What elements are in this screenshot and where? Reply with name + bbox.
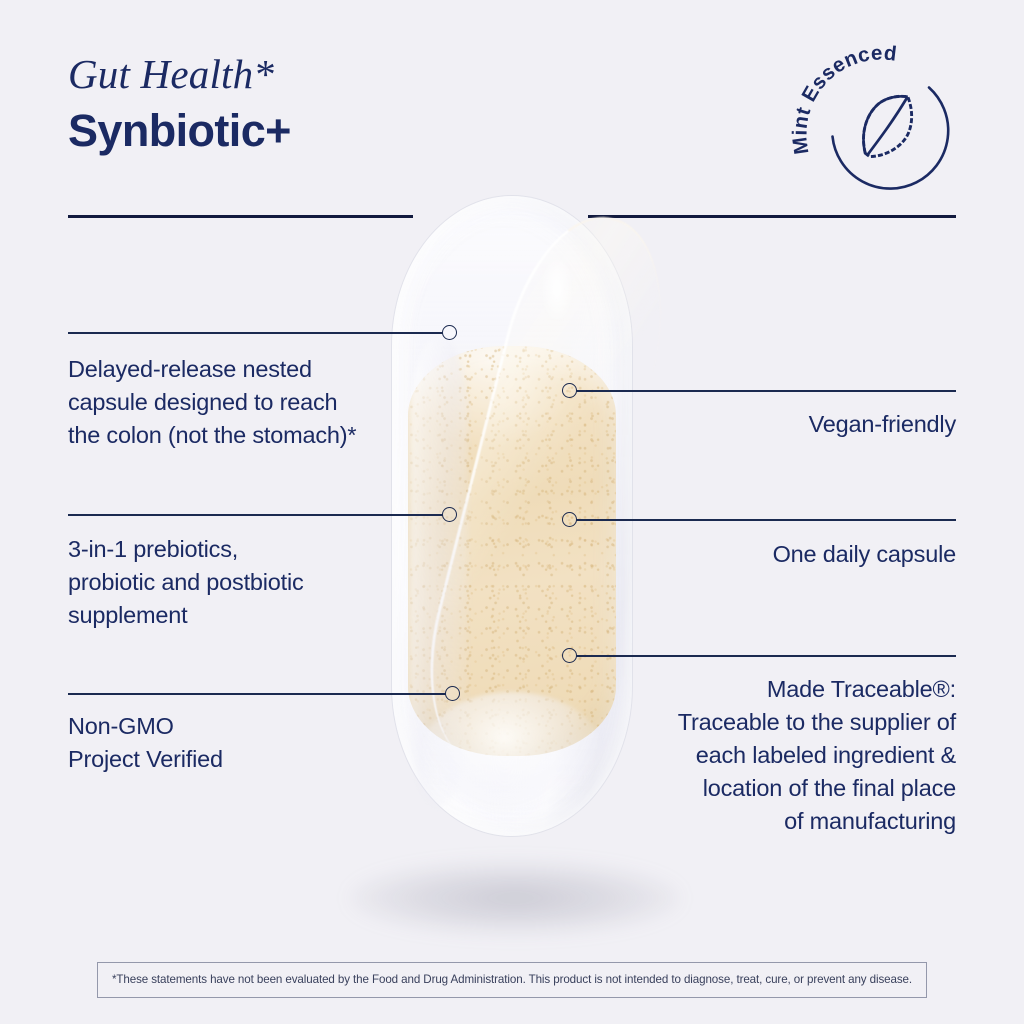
infographic-canvas: Gut Health* Synbiotic+ Mint Essenced (0, 0, 1024, 1024)
feature-line: capsule designed to reach (68, 386, 398, 419)
feature-line: supplement (68, 599, 398, 632)
connector-endpoint-dot (442, 507, 457, 522)
feature-line: Made Traceable®: (556, 673, 956, 706)
feature-three-in-one: 3-in-1 prebiotics, probiotic and postbio… (68, 533, 398, 632)
feature-delayed-release: Delayed-release nested capsule designed … (68, 353, 398, 452)
capsule-drop-shadow (350, 862, 680, 934)
connector-delayed-release (68, 324, 458, 342)
connector-endpoint-dot (442, 325, 457, 340)
connector-made-traceable (562, 647, 956, 665)
feature-line: 3-in-1 prebiotics, (68, 533, 398, 566)
disclaimer-box: *These statements have not been evaluate… (97, 962, 927, 998)
connector-endpoint-dot (562, 512, 577, 527)
connector-line (576, 655, 956, 657)
feature-line: Project Verified (68, 743, 398, 776)
feature-line: Non-GMO (68, 710, 398, 743)
connector-non-gmo (68, 685, 463, 703)
connector-line (68, 693, 446, 695)
product-name-title: Synbiotic+ (68, 107, 628, 154)
connector-endpoint-dot (445, 686, 460, 701)
connector-line (68, 332, 443, 334)
feature-line: One daily capsule (556, 538, 956, 571)
mint-essenced-badge: Mint Essenced (790, 40, 970, 205)
feature-one-daily-capsule: One daily capsule (556, 538, 956, 571)
feature-line: probiotic and postbiotic (68, 566, 398, 599)
connector-three-in-one (68, 506, 458, 524)
badge-graphic: Mint Essenced (790, 40, 970, 205)
header-divider-right (588, 215, 956, 218)
eyebrow-title: Gut Health* (68, 54, 628, 95)
connector-line (576, 390, 956, 392)
feature-line: Vegan-friendly (556, 408, 956, 441)
feature-line: of manufacturing (556, 805, 956, 838)
connector-vegan-friendly (562, 382, 956, 400)
header-divider-left (68, 215, 413, 218)
feature-line: each labeled ingredient & (556, 739, 956, 772)
connector-endpoint-dot (562, 383, 577, 398)
feature-line: the colon (not the stomach)* (68, 419, 398, 452)
feature-vegan-friendly: Vegan-friendly (556, 408, 956, 441)
feature-line: location of the final place (556, 772, 956, 805)
connector-line (576, 519, 956, 521)
feature-made-traceable: Made Traceable®: Traceable to the suppli… (556, 673, 956, 837)
leaf-icon (858, 95, 917, 158)
connector-one-daily-capsule (562, 511, 956, 529)
badge-circle-arc (833, 88, 949, 189)
connector-endpoint-dot (562, 648, 577, 663)
badge-label: Mint Essenced (790, 41, 898, 155)
page-title: Gut Health* Synbiotic+ (68, 54, 628, 154)
capsule-specular-highlight (540, 254, 574, 324)
connector-line (68, 514, 443, 516)
feature-line: Delayed-release nested (68, 353, 398, 386)
feature-line: Traceable to the supplier of (556, 706, 956, 739)
feature-non-gmo: Non-GMO Project Verified (68, 710, 398, 776)
disclaimer-text: *These statements have not been evaluate… (112, 973, 912, 987)
